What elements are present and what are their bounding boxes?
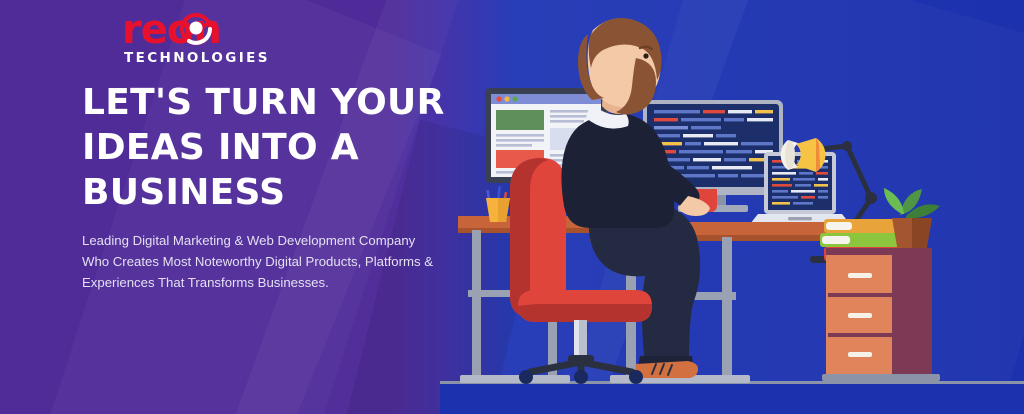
logo-swirl-icon xyxy=(179,12,213,46)
brand-logo[interactable]: reon TECHNOLOGIES xyxy=(122,10,272,68)
logo-tagline: TECHNOLOGIES xyxy=(124,50,270,66)
hero-headline: LET'S TURN YOUR IDEAS INTO A BUSINESS xyxy=(82,80,482,215)
hero-illustration xyxy=(440,0,1024,414)
pencil-cup xyxy=(486,186,510,222)
hero-banner: reon TECHNOLOGIES LET'S TURN YOUR IDEAS … xyxy=(0,0,1024,414)
hero-subcopy: Leading Digital Marketing & Web Developm… xyxy=(82,230,442,293)
drawer-cabinet xyxy=(822,248,940,381)
logo-wordmark: reon xyxy=(122,10,272,50)
